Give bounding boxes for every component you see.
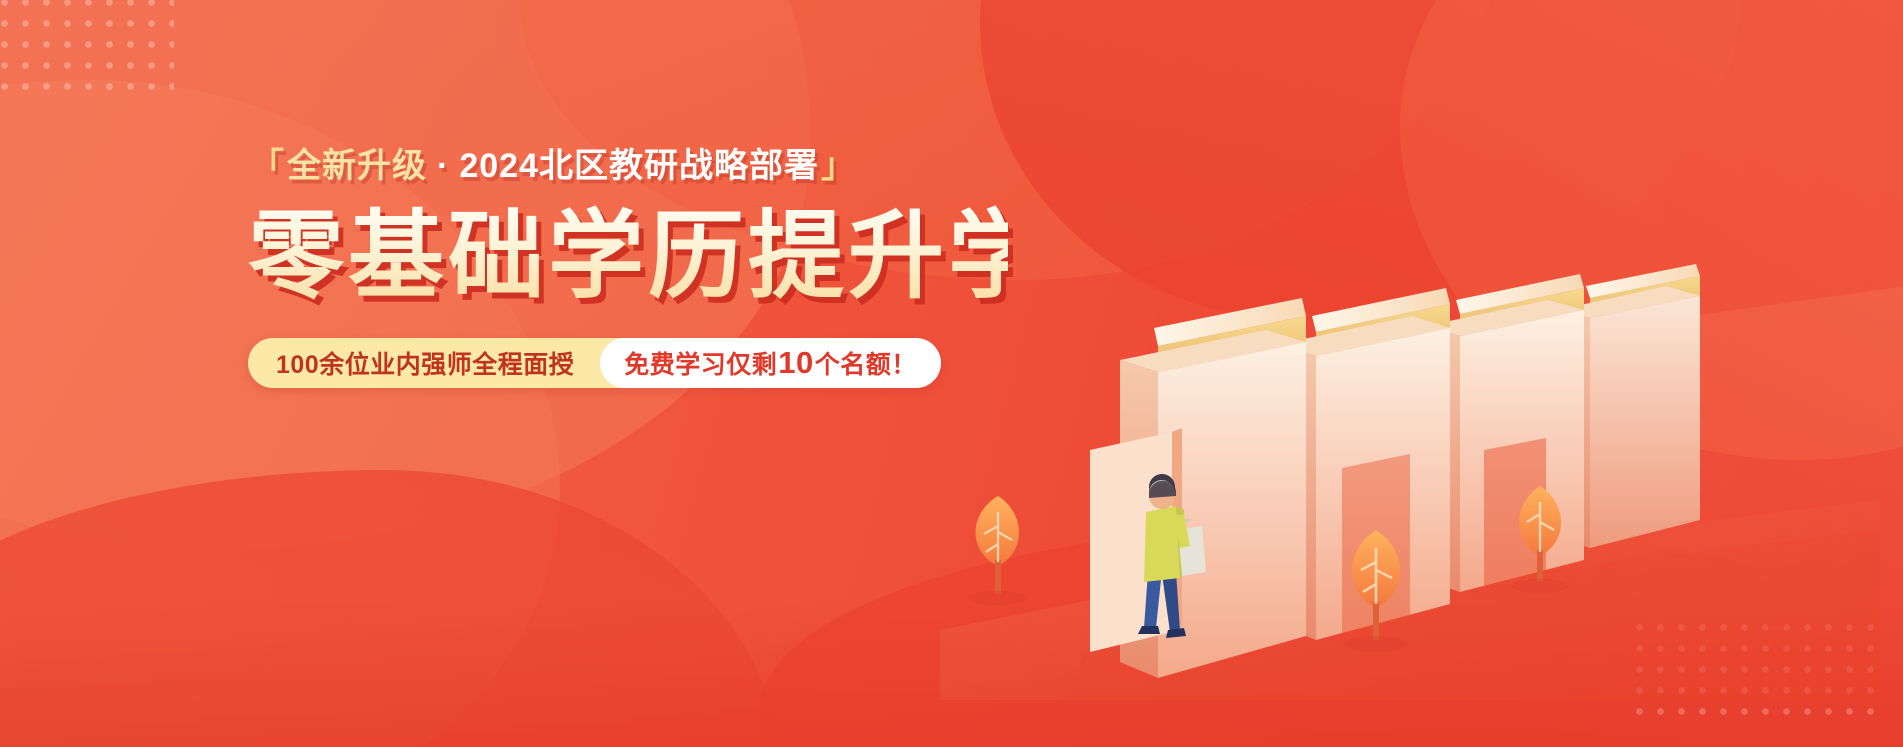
subtitle-separator: · xyxy=(437,147,449,185)
subtitle-gold-text: 全新升级 xyxy=(287,147,427,185)
pill-right-number: 10 xyxy=(778,345,813,381)
dot-pattern-top-left xyxy=(0,0,174,104)
banner-subtitle: 「全新升级·2024北区教研战略部署」 xyxy=(248,146,1008,187)
pill-right-label: 免费学习仅剩10个名额！ xyxy=(600,338,941,388)
subtitle-close-bracket: 」 xyxy=(821,147,856,185)
pill-right-prefix: 免费学习仅剩 xyxy=(624,345,777,381)
pill-right-suffix: 个名额！ xyxy=(815,345,917,381)
subtitle-white-text: 2024北区教研战略部署 xyxy=(459,147,819,185)
book-arch-1 xyxy=(1090,298,1306,678)
banner-cta-pill[interactable]: 100余位业内强师全程面授 免费学习仅剩10个名额！ xyxy=(248,338,941,388)
promo-banner: 「全新升级·2024北区教研战略部署」 零基础学历提升学霸班 100余位业内强师… xyxy=(0,0,1903,747)
banner-text-block: 「全新升级·2024北区教研战略部署」 零基础学历提升学霸班 100余位业内强师… xyxy=(248,146,1008,388)
stylized-tree-left xyxy=(968,496,1028,605)
subtitle-open-bracket: 「 xyxy=(250,147,285,185)
banner-headline: 零基础学历提升学霸班 xyxy=(248,203,1008,311)
pill-left-label: 100余位业内强师全程面授 xyxy=(248,338,600,388)
